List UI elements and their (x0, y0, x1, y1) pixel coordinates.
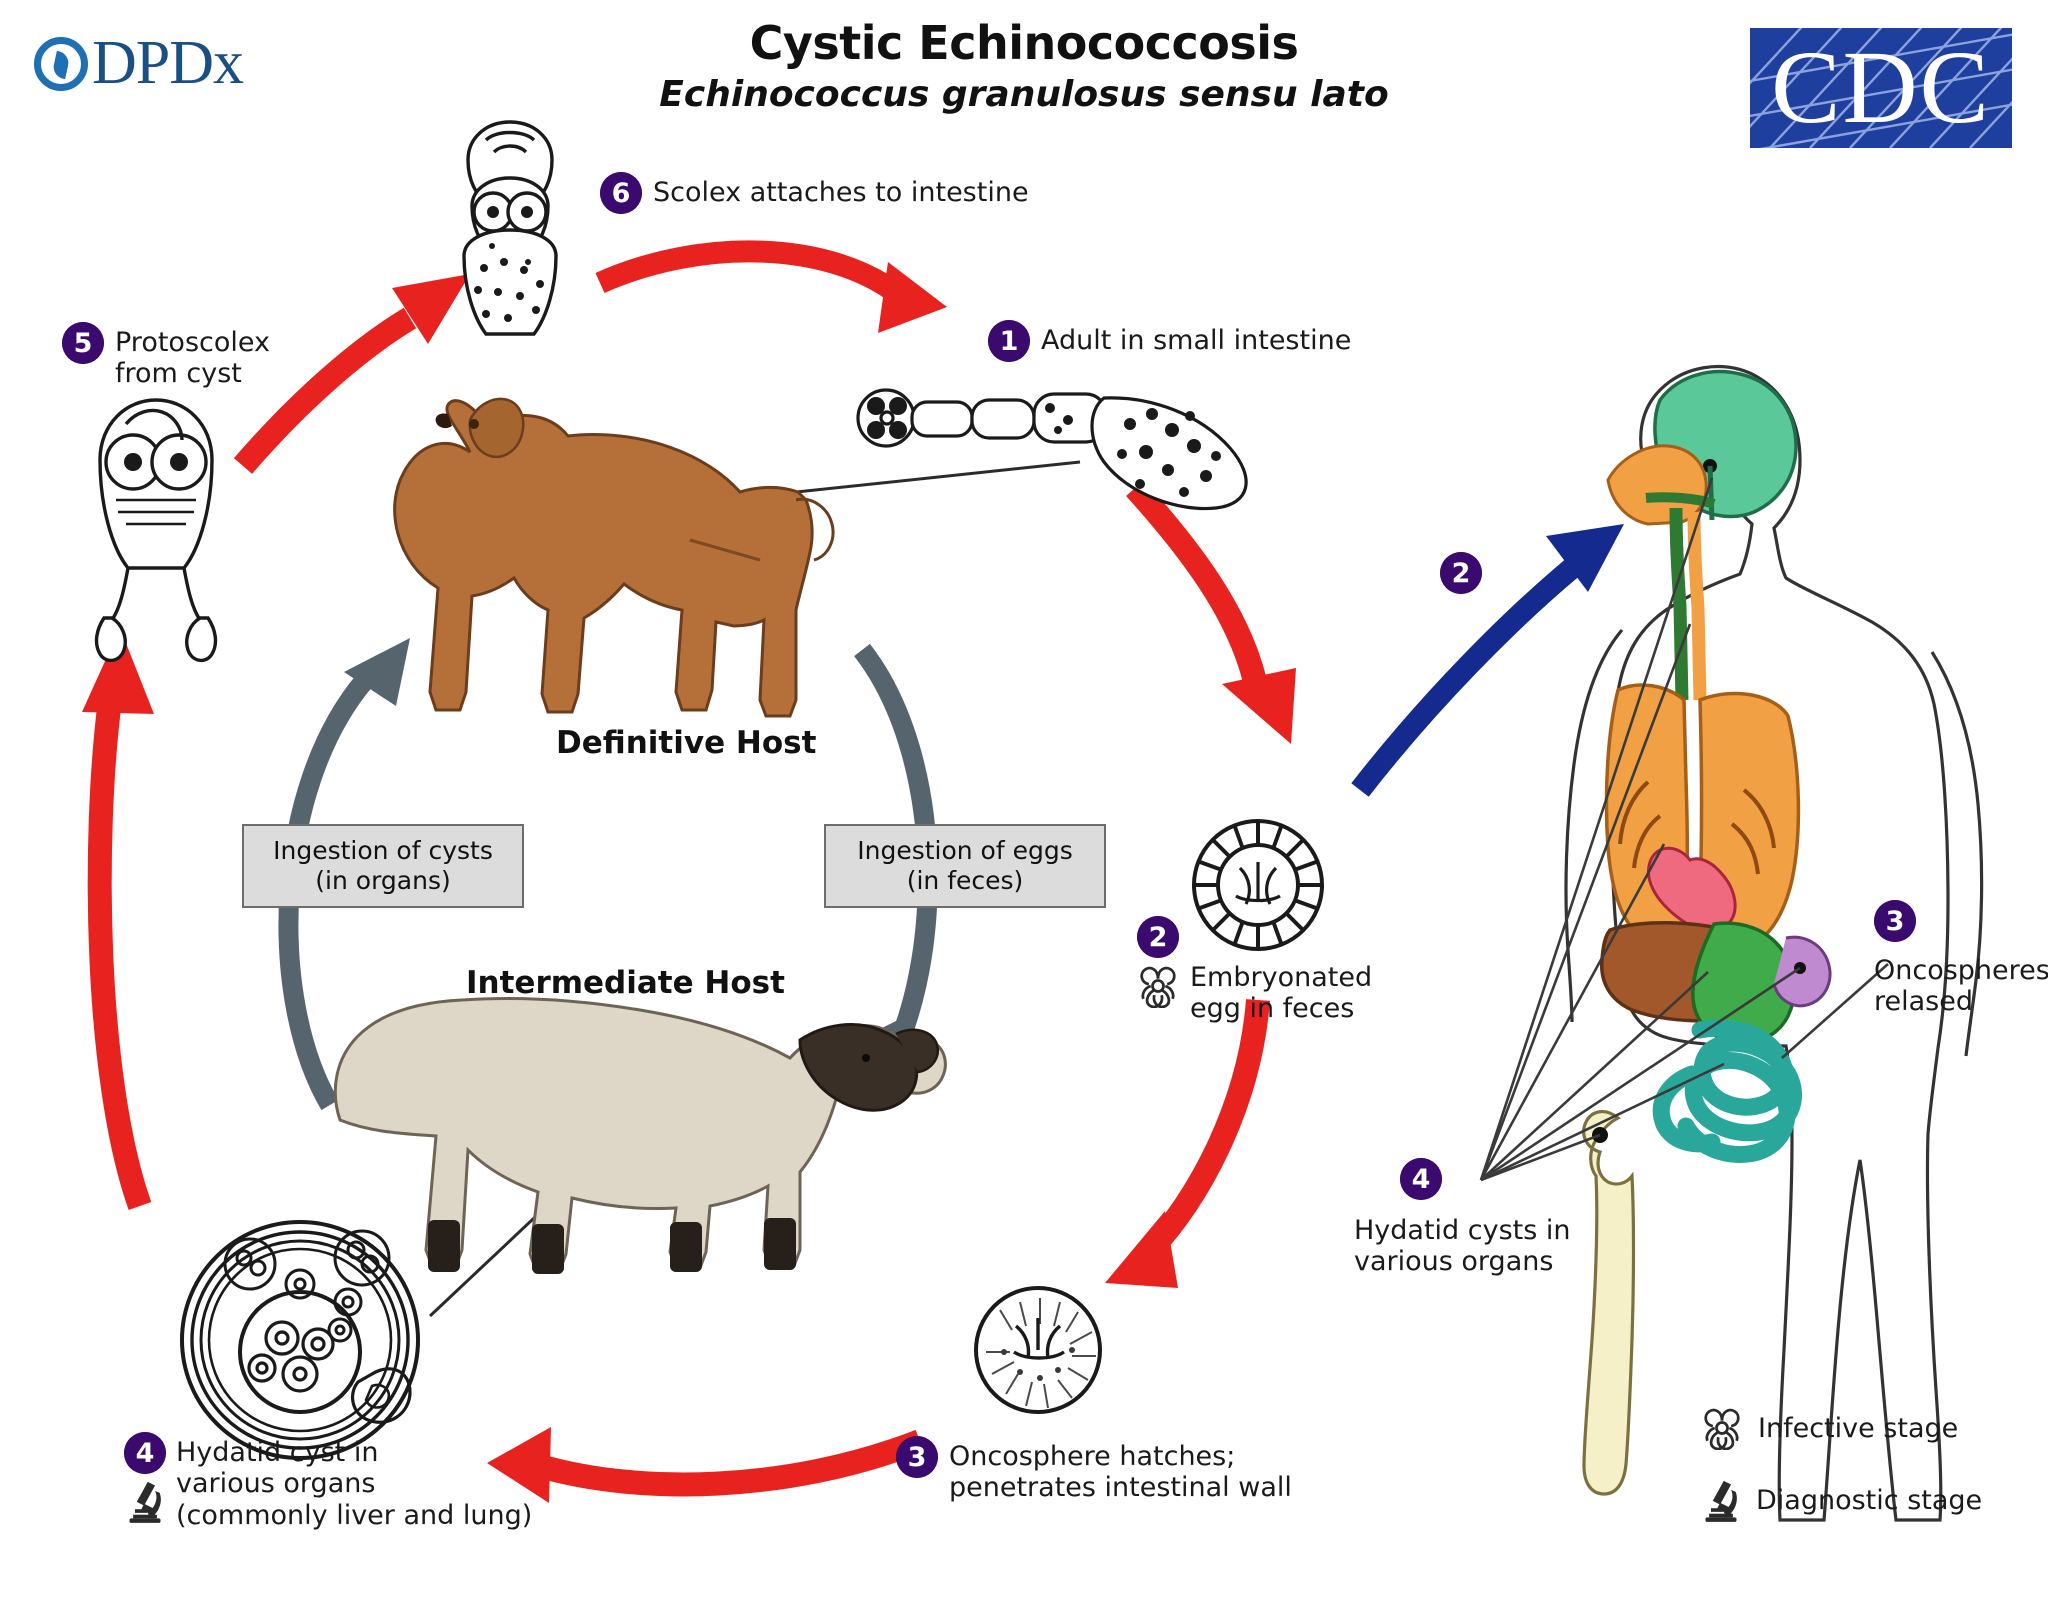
legend-item-diagnostic-stage: Diagnostic stage (1700, 1476, 1982, 1524)
intermediate-host-label: Intermediate Host (466, 965, 785, 1001)
legend-item-infective-stage: Infective stage (1700, 1406, 1982, 1450)
step-1-adult-in-small-intestine: 1 Adult in small intestine (988, 320, 1351, 362)
protoscolex-illustration (97, 400, 216, 660)
ingestion-of-cysts-box: Ingestion of cysts (in organs) (242, 824, 524, 908)
microscope-icon (124, 1478, 166, 1524)
adult-tapeworm-illustration (858, 390, 1246, 509)
step-3-label: Oncosphere hatches; penetrates intestina… (949, 1436, 1292, 1504)
arrow-protoscolex-to-scolex (243, 274, 470, 466)
arrow-scolex-to-adult (600, 251, 947, 333)
dog-illustration (395, 399, 833, 716)
page-subtitle: Echinococcus granulosus sensu lato (0, 74, 2048, 115)
human-step-4-label: Hydatid cysts in various organs (1354, 1210, 1571, 1278)
arrow-egg-to-human (1360, 524, 1624, 790)
step-4-label: Hydatid cyst in various organs (commonly… (176, 1432, 532, 1531)
ingestion-of-eggs-box: Ingestion of eggs (in feces) (824, 824, 1106, 908)
human-step-4-hydatid-cysts: 4 Hydatid cysts in various organs (1400, 1158, 1571, 1278)
legend: Infective stage Diagnostic stage (1700, 1406, 1982, 1524)
step-6-scolex-attaches: 6 Scolex attaches to intestine (600, 172, 1029, 214)
human-step-3-oncospheres-released: 3 Oncospheres relased (1874, 900, 2048, 1018)
human-step-2-badge: 2 (1440, 552, 1482, 594)
arrow-adult-to-egg (1135, 488, 1296, 744)
step-1-label: Adult in small intestine (1041, 320, 1351, 356)
life-cycle-diagram: DPDx Cystic Echinococcosis Echinococcus … (0, 0, 2048, 1599)
biohazard-icon (1700, 1406, 1744, 1450)
microscope-icon (1700, 1476, 1742, 1524)
scolex-illustration (464, 122, 556, 334)
cdc-trademark: ™ (2011, 131, 2012, 146)
step-3-badge: 3 (896, 1436, 938, 1478)
step-3-oncosphere-hatches: 3 Oncosphere hatches; penetrates intesti… (896, 1436, 1292, 1504)
biohazard-icon (1136, 964, 1180, 1008)
arrow-cyst-to-protoscolex (82, 628, 154, 1206)
step-6-label: Scolex attaches to intestine (653, 172, 1029, 208)
step-5-badge: 5 (62, 322, 104, 364)
step-2-badge: 2 (1137, 916, 1179, 958)
step-2-label: Embryonated egg in feces (1190, 916, 1372, 1025)
diagram-artwork (0, 0, 2048, 1599)
hydatid-cyst-illustration (182, 1222, 418, 1458)
step-4-badge: 4 (124, 1432, 166, 1474)
legend-label-infective-stage: Infective stage (1758, 1413, 1958, 1444)
human-step-3-label: Oncospheres relased (1874, 950, 2048, 1018)
human-step-4-badge: 4 (1400, 1158, 1442, 1200)
step-5-label: Protoscolex from cyst (115, 322, 270, 390)
arrow-oncosphere-to-cyst (487, 1427, 920, 1503)
step-1-badge: 1 (988, 320, 1030, 362)
definitive-host-label: Definitive Host (556, 725, 816, 761)
sheep-illustration (335, 998, 945, 1274)
step-5-protoscolex: 5 Protoscolex from cyst (62, 322, 270, 390)
cdc-logo: CDC ™ (1750, 28, 2012, 148)
cdc-logo-text: CDC (1750, 28, 2012, 148)
step-6-badge: 6 (600, 172, 642, 214)
oncosphere-illustration (976, 1288, 1100, 1412)
step-4-hydatid-cyst: 4 Hydatid cyst in various organs (common… (124, 1432, 532, 1531)
step-2-embryonated-egg: 2 Embryonated egg in feces (1136, 916, 1372, 1025)
page-title: Cystic Echinococcosis (0, 16, 2048, 70)
legend-label-diagnostic-stage: Diagnostic stage (1756, 1485, 1982, 1516)
title-block: Cystic Echinococcosis Echinococcus granu… (0, 16, 2048, 115)
arrow-egg-to-oncosphere (1105, 1000, 1258, 1288)
human-step-3-badge: 3 (1874, 900, 1916, 942)
